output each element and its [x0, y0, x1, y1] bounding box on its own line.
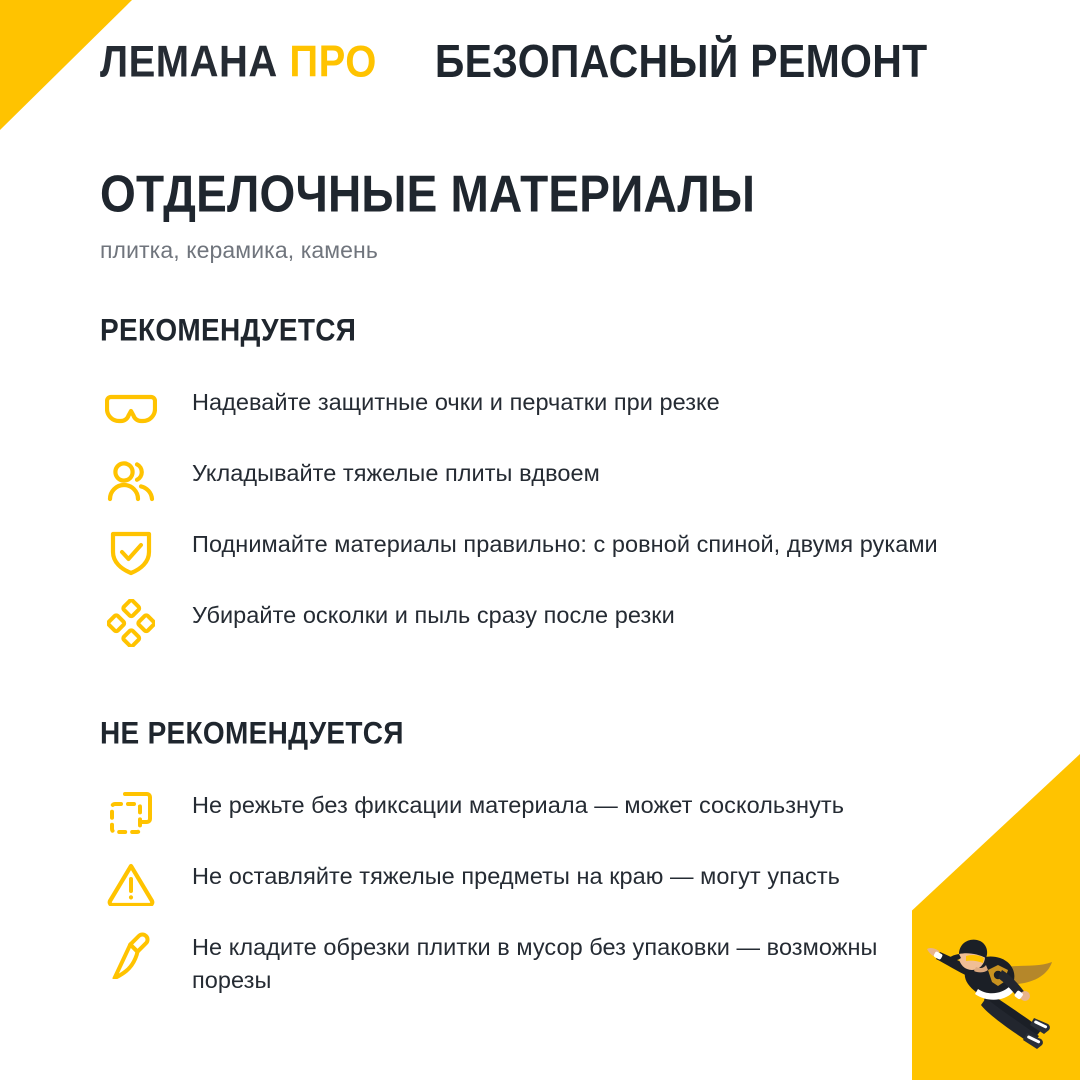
list-item: Убирайте осколки и пыль сразу после резк…	[100, 599, 960, 646]
list-item-label: Надевайте защитные очки и перчатки при р…	[192, 386, 720, 418]
unfixed-square-icon	[100, 790, 162, 836]
list-item-label: Поднимайте материалы правильно: с ровной…	[192, 528, 938, 560]
recommended-section: РЕКОМЕНДУЕТСЯ Надевайте защитные очки и …	[100, 312, 960, 646]
diamond-cluster-icon	[100, 600, 162, 646]
logo-accent-text: ПРО	[289, 37, 377, 86]
list-item-label: Не оставляйте тяжелые предметы на краю —…	[192, 860, 840, 892]
list-item: Не оставляйте тяжелые предметы на краю —…	[100, 860, 960, 907]
page-title: ОТДЕЛОЧНЫЕ МАТЕРИАЛЫ	[100, 168, 960, 221]
list-item-label: Не кладите обрезки плитки в мусор без уп…	[192, 931, 952, 996]
not-recommended-heading: НЕ РЕКОМЕНДУЕТСЯ	[100, 715, 960, 751]
list-item-label: Не режьте без фиксации материала — может…	[192, 789, 844, 821]
list-item: Укладывайте тяжелые плиты вдвоем	[100, 457, 960, 504]
list-item: Надевайте защитные очки и перчатки при р…	[100, 386, 960, 433]
poster-canvas: ЛЕМАНА ПРО БЕЗОПАСНЫЙ РЕМОНТ ОТДЕЛОЧНЫЕ …	[0, 0, 1080, 1080]
lemana-pro-logo: ЛЕМАНА ПРО	[100, 39, 377, 84]
flying-superhero-mascot	[926, 934, 1074, 1054]
warning-triangle-icon	[100, 861, 162, 907]
campaign-title: БЕЗОПАСНЫЙ РЕМОНТ	[435, 38, 928, 85]
list-item: Не режьте без фиксации материала — может…	[100, 789, 960, 836]
two-people-icon	[100, 458, 162, 504]
list-item: Не кладите обрезки плитки в мусор без уп…	[100, 931, 960, 996]
recommended-list: Надевайте защитные очки и перчатки при р…	[100, 386, 960, 646]
not-recommended-section: НЕ РЕКОМЕНДУЕТСЯ Не режьте без фиксации …	[100, 715, 960, 996]
recommended-heading: РЕКОМЕНДУЕТСЯ	[100, 312, 960, 348]
page-subtitle: плитка, керамика, камень	[100, 237, 960, 264]
list-item: Поднимайте материалы правильно: с ровной…	[100, 528, 960, 575]
knife-icon	[100, 932, 162, 978]
not-recommended-list: Не режьте без фиксации материала — может…	[100, 789, 960, 996]
safety-goggles-icon	[100, 387, 162, 433]
header: ЛЕМАНА ПРО БЕЗОПАСНЫЙ РЕМОНТ	[100, 41, 928, 82]
shield-check-icon	[100, 529, 162, 575]
main-content: ОТДЕЛОЧНЫЕ МАТЕРИАЛЫ плитка, керамика, к…	[100, 168, 960, 996]
list-item-label: Убирайте осколки и пыль сразу после резк…	[192, 599, 675, 631]
list-item-label: Укладывайте тяжелые плиты вдвоем	[192, 457, 600, 489]
logo-main-text: ЛЕМАНА	[100, 37, 278, 86]
